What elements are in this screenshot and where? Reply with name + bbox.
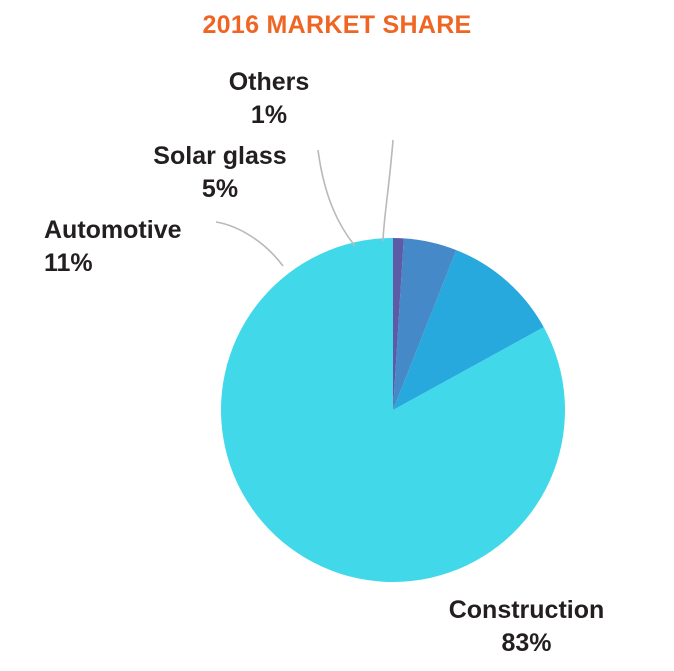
slice-label-construction-value: 83% [424, 627, 629, 660]
slice-label-solar-glass: Solar glass 5% [125, 140, 315, 205]
slice-label-others-value: 1% [189, 99, 349, 132]
slice-label-solar-glass-value: 5% [125, 173, 315, 206]
slice-label-construction: Construction 83% [424, 594, 629, 659]
slice-label-solar-glass-name: Solar glass [125, 140, 315, 173]
slice-label-automotive-name: Automotive [44, 214, 244, 247]
leader-line-others [383, 140, 393, 241]
slice-label-automotive: Automotive 11% [44, 214, 244, 279]
slice-label-others: Others 1% [189, 66, 349, 131]
leader-line-solar-glass [318, 150, 355, 246]
slice-label-construction-name: Construction [424, 594, 629, 627]
pie-chart-figure: 2016 MARKET SHARE Others 1% Solar glass … [0, 0, 674, 671]
slice-label-automotive-value: 11% [44, 247, 244, 280]
slice-label-others-name: Others [189, 66, 349, 99]
